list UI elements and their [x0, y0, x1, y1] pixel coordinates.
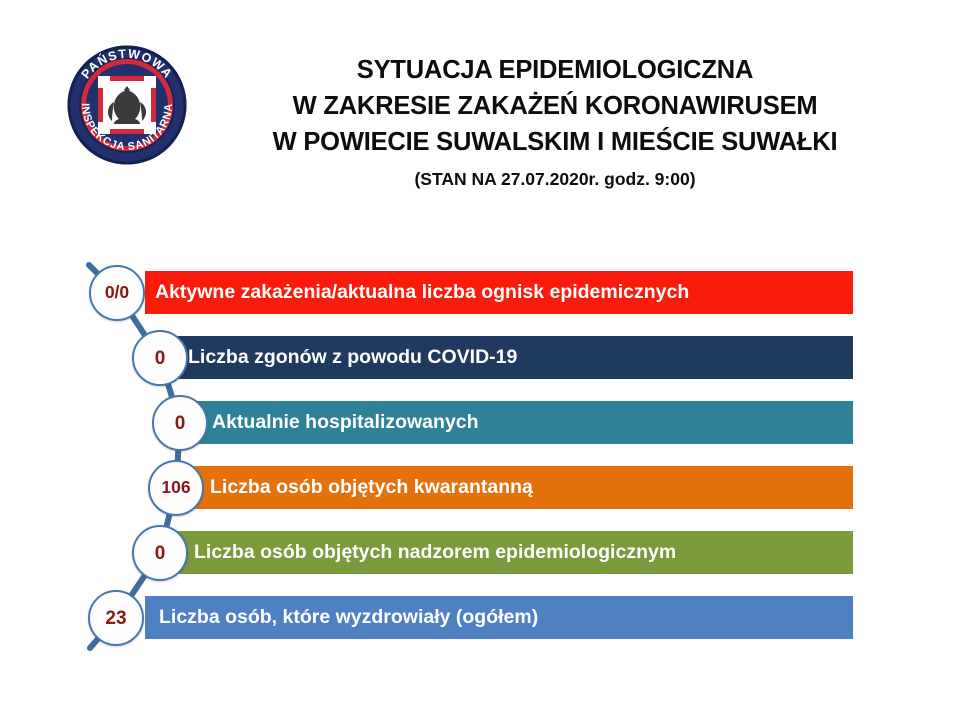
- value-hospitalized: 0: [175, 414, 186, 433]
- value-node-deaths: 0: [132, 330, 188, 386]
- bar-deaths: Liczba zgonów z powodu COVID-19: [168, 336, 853, 379]
- bar-active-infections: Aktywne zakażenia/aktualna liczba ognisk…: [145, 271, 853, 314]
- bar-quarantine: Liczba osób objętych kwarantanną: [192, 466, 853, 509]
- epidemic-stats-chart: Aktywne zakażenia/aktualna liczba ognisk…: [0, 0, 960, 720]
- poster-root: PAŃSTWOWA INSPEKCJA SANITARNA SYTUACJA E…: [0, 0, 960, 720]
- bar-label-supervision: Liczba osób objętych nadzorem epidemiolo…: [194, 543, 676, 563]
- value-node-recovered: 23: [88, 590, 144, 646]
- bar-label-active-infections: Aktywne zakażenia/aktualna liczba ognisk…: [155, 283, 689, 303]
- bar-hospitalized: Aktualnie hospitalizowanych: [190, 401, 853, 444]
- bar-label-hospitalized: Aktualnie hospitalizowanych: [212, 413, 479, 433]
- bar-label-deaths: Liczba zgonów z powodu COVID-19: [188, 348, 517, 368]
- value-quarantine: 106: [161, 479, 190, 497]
- value-active-infections: 0/0: [105, 284, 129, 302]
- value-node-hospitalized: 0: [152, 395, 208, 451]
- bar-recovered: Liczba osób, które wyzdrowiały (ogółem): [145, 596, 853, 639]
- bar-supervision: Liczba osób objętych nadzorem epidemiolo…: [172, 531, 853, 574]
- value-node-supervision: 0: [132, 525, 188, 581]
- bar-label-quarantine: Liczba osób objętych kwarantanną: [210, 478, 533, 498]
- bar-label-recovered: Liczba osób, które wyzdrowiały (ogółem): [159, 608, 538, 628]
- value-recovered: 23: [105, 609, 126, 628]
- value-node-quarantine: 106: [148, 460, 204, 516]
- value-deaths: 0: [155, 349, 166, 368]
- value-node-active-infections: 0/0: [89, 265, 145, 321]
- value-supervision: 0: [155, 544, 166, 563]
